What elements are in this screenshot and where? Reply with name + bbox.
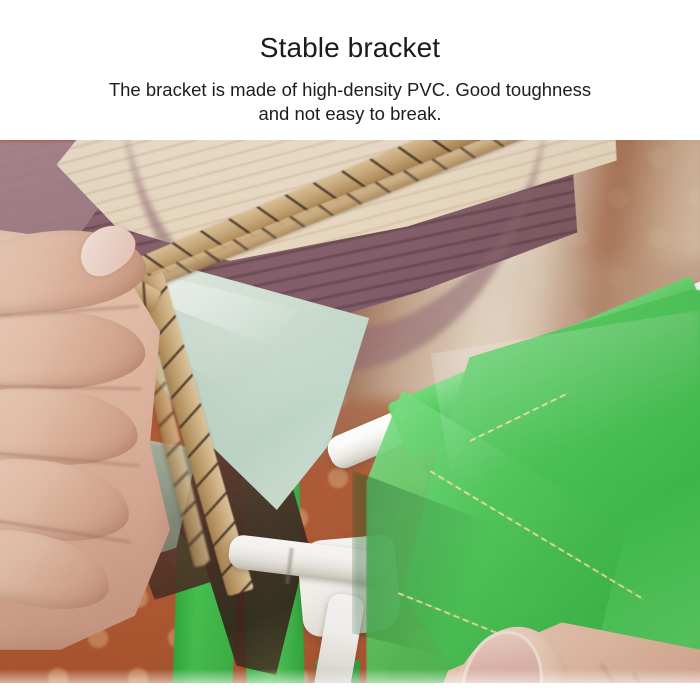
product-feature-card: Stable bracket The bracket is made of hi… [0,0,700,700]
page-title: Stable bracket [0,31,700,65]
header-banner: Stable bracket The bracket is made of hi… [0,0,700,140]
subtitle-line-2: and not easy to break. [0,102,700,126]
footer-white-band [0,683,700,700]
product-photo [0,140,700,683]
page-subtitle: The bracket is made of high-density PVC.… [0,78,700,126]
photo-color-grade [0,140,700,683]
photo-bottom-fade [0,669,700,683]
subtitle-line-1: The bracket is made of high-density PVC.… [109,79,591,100]
